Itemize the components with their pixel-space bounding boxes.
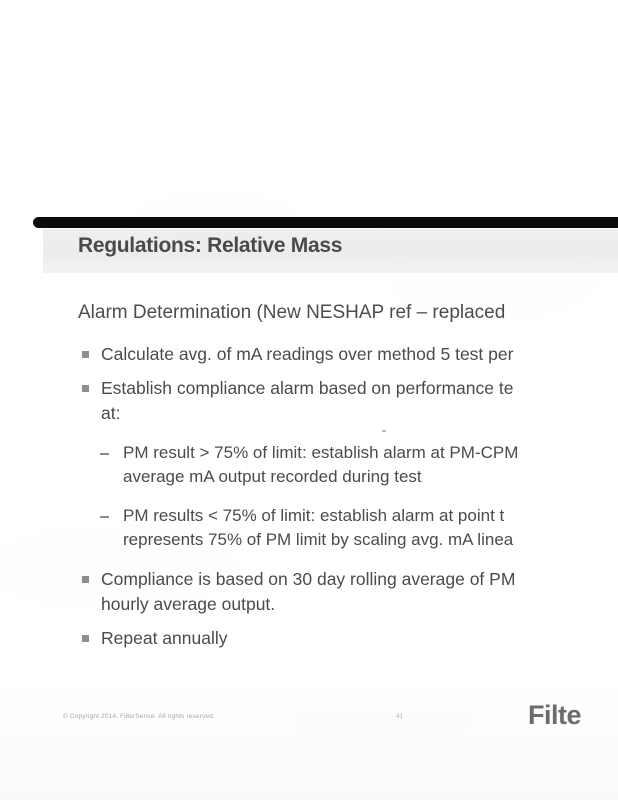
list-item: PM results < 75% of limit: establish ala…: [78, 504, 618, 552]
slide-page: Regulations: Relative Mass Alarm Determi…: [0, 0, 618, 800]
list-item-line: average mA output recorded during test: [123, 465, 618, 489]
dash-bullet-icon: [100, 516, 109, 518]
list-item-line: Establish compliance alarm based on perf…: [101, 376, 618, 401]
scan-speck-artifact: [382, 430, 386, 432]
lead-line: Alarm Determination (New NESHAP ref – re…: [78, 300, 618, 326]
square-bullet-icon: [82, 635, 89, 642]
list-item-line: at:: [101, 401, 618, 426]
list-item-line: hourly average output.: [101, 592, 618, 617]
list-item-line: Calculate avg. of mA readings over metho…: [101, 342, 618, 367]
list-item-line: Compliance is based on 30 day rolling av…: [101, 567, 618, 592]
list-item: Calculate avg. of mA readings over metho…: [78, 342, 618, 367]
footer-page-number: 41: [396, 713, 403, 720]
list-item-line: PM results < 75% of limit: establish ala…: [123, 504, 618, 528]
list-item: Establish compliance alarm based on perf…: [78, 376, 618, 426]
square-bullet-icon: [82, 385, 89, 392]
list-item-line: represents 75% of PM limit by scaling av…: [123, 528, 618, 552]
list-item: PM result > 75% of limit: establish alar…: [78, 441, 618, 489]
dash-bullet-icon: [100, 453, 109, 455]
list-item-line: Repeat annually: [101, 626, 618, 651]
list-item: Compliance is based on 30 day rolling av…: [78, 567, 618, 617]
slide-body: Alarm Determination (New NESHAP ref – re…: [78, 300, 618, 660]
list-item: Repeat annually: [78, 626, 618, 651]
page-title: Regulations: Relative Mass: [78, 234, 342, 258]
square-bullet-icon: [82, 351, 89, 358]
header-rule: [33, 217, 618, 228]
footer-logo: Filte: [528, 700, 581, 731]
footer-copyright: © Copyright 2014, FilterSense. All right…: [63, 713, 215, 720]
square-bullet-icon: [82, 576, 89, 583]
list-item-line: PM result > 75% of limit: establish alar…: [123, 441, 618, 465]
